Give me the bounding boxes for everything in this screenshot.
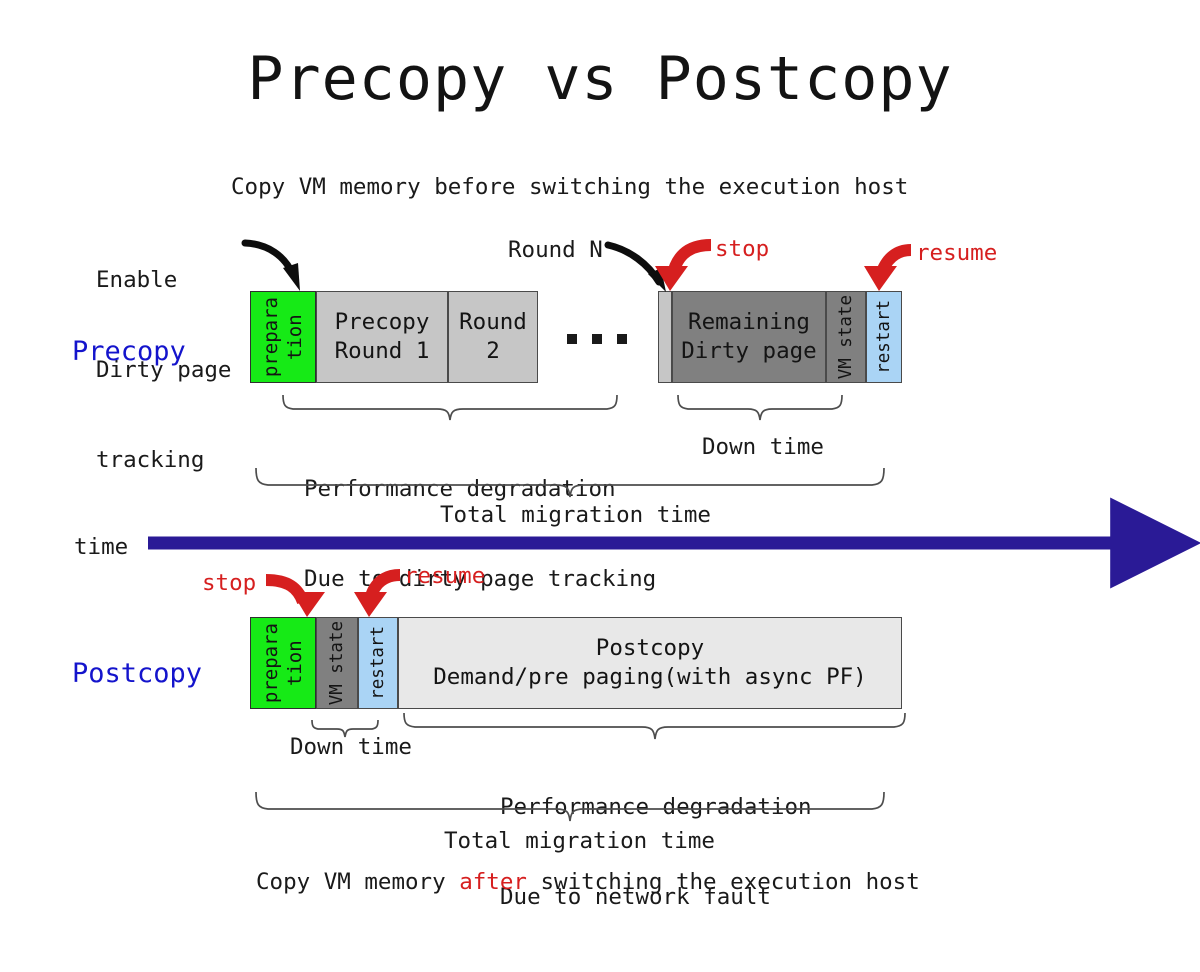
postcopy-resume-label: resume: [404, 563, 485, 589]
bottom-caption-highlight: after: [459, 869, 527, 895]
postcopy-total-migration-time-label: Total migration time: [444, 826, 715, 856]
page-title: Precopy vs Postcopy: [0, 44, 1200, 114]
postcopy-block-restart: restart: [358, 617, 398, 709]
precopy-round-2-label: Round 2: [459, 308, 527, 366]
bottom-caption: Copy VM memory after switching the execu…: [256, 869, 920, 895]
postcopy-down-time-label: Down time: [290, 732, 412, 762]
precopy-preparation-label: prepara tion: [259, 297, 307, 377]
precopy-side-label: Precopy: [72, 336, 186, 367]
bottom-caption-post: switching the execution host: [527, 869, 920, 895]
precopy-stop-label: stop: [715, 236, 769, 262]
ellipsis-dot-2: [592, 334, 602, 344]
precopy-resume-label: resume: [916, 240, 997, 266]
precopy-down-time-brace: [678, 395, 842, 420]
diagram-canvas: Precopy vs Postcopy Copy VM memory befor…: [0, 0, 1200, 900]
postcopy-block-vm-state: VM state: [316, 617, 358, 709]
ellipsis-dot-1: [567, 334, 577, 344]
bottom-caption-pre: Copy VM memory: [256, 869, 459, 895]
brace-label-line-1: Performance degradation: [500, 792, 812, 822]
precopy-block-restart: restart: [866, 291, 902, 383]
enable-tracking-arrow-icon: [245, 243, 300, 291]
postcopy-stop-label: stop: [202, 570, 256, 596]
precopy-resume-arrow-icon: [864, 250, 911, 291]
precopy-block-round-2: Round 2: [448, 291, 538, 383]
precopy-block-vm-state: VM state: [826, 291, 866, 383]
precopy-block-remaining-dirty-page: Remaining Dirty page: [672, 291, 826, 383]
precopy-stop-arrow-icon: [655, 245, 711, 291]
round-n-arrow-icon: [608, 245, 666, 292]
time-axis-label: time: [74, 532, 128, 562]
precopy-round-1-label: Precopy Round 1: [335, 308, 430, 366]
annotation-line-1: Enable: [96, 265, 231, 295]
precopy-block-precopy-round-1: Precopy Round 1: [316, 291, 448, 383]
precopy-block-preparation: prepara tion: [250, 291, 316, 383]
postcopy-block-preparation: prepara tion: [250, 617, 316, 709]
postcopy-vm-state-label: VM state: [326, 621, 348, 705]
precopy-vm-state-label: VM state: [835, 295, 857, 379]
ellipsis-dot-3: [617, 334, 627, 344]
precopy-down-time-label: Down time: [702, 432, 824, 462]
enable-dirty-page-tracking-annotation: Enable Dirty page tracking: [96, 205, 231, 535]
top-caption: Copy VM memory before switching the exec…: [231, 174, 908, 200]
postcopy-restart-label: restart: [367, 626, 389, 700]
round-n-annotation: Round N: [508, 235, 603, 265]
postcopy-preparation-label: prepara tion: [259, 623, 307, 703]
precopy-remaining-dirty-page-label: Remaining Dirty page: [681, 308, 816, 366]
postcopy-side-label: Postcopy: [72, 658, 202, 689]
postcopy-demand-paging-label: Postcopy Demand/pre paging(with async PF…: [433, 634, 866, 692]
precopy-restart-label: restart: [873, 300, 895, 374]
precopy-block-round-n-start: [658, 291, 672, 383]
precopy-total-migration-time-label: Total migration time: [440, 500, 711, 530]
postcopy-block-demand-paging: Postcopy Demand/pre paging(with async PF…: [398, 617, 902, 709]
annotation-line-3: tracking: [96, 445, 231, 475]
